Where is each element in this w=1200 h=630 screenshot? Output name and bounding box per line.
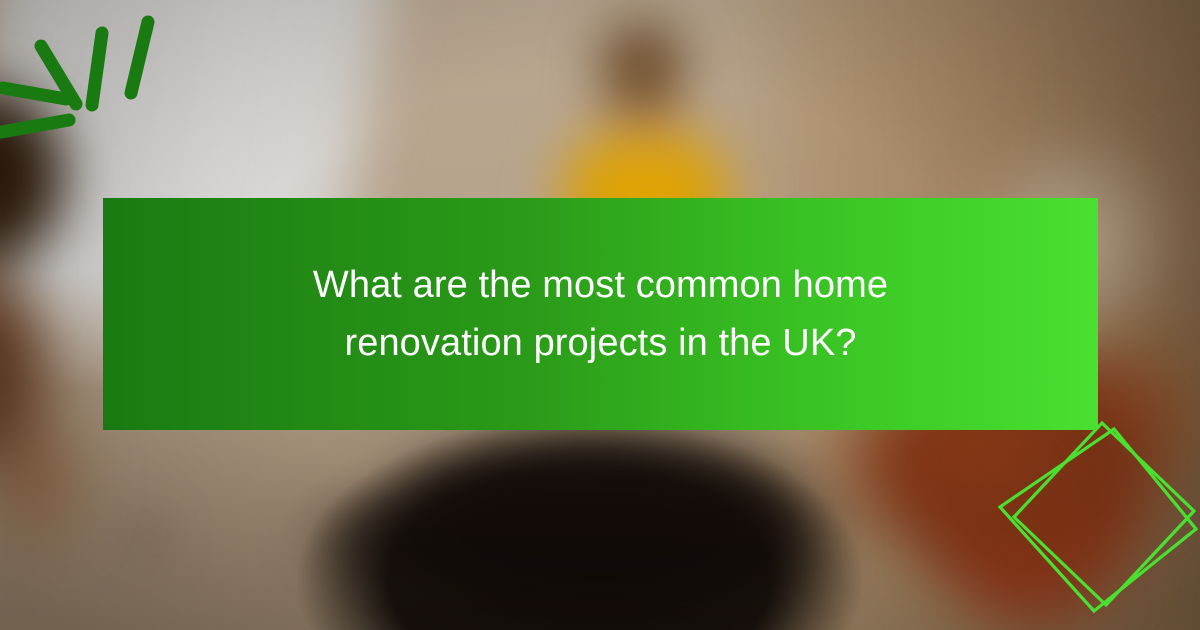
page-title: What are the most common home renovation…: [251, 256, 951, 372]
social-card: What are the most common home renovation…: [0, 0, 1200, 630]
headline-banner: What are the most common home renovation…: [103, 198, 1098, 430]
